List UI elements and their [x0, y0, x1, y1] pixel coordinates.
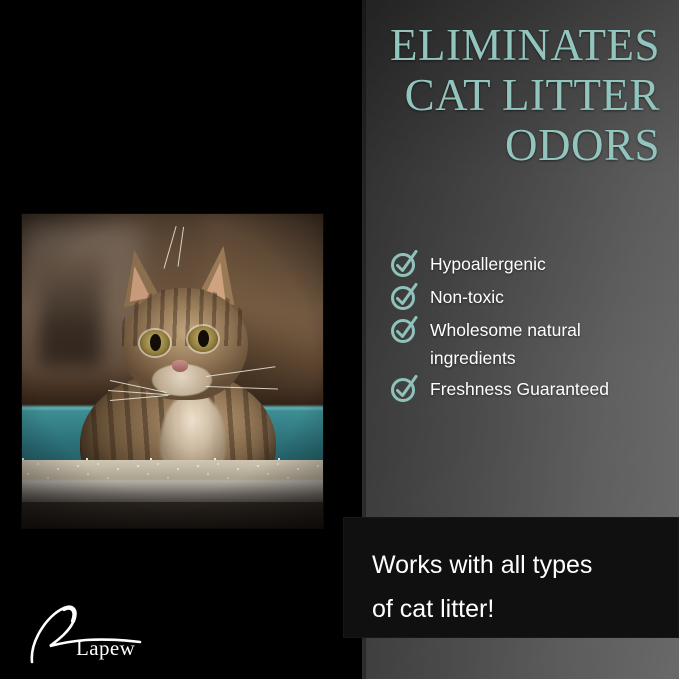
brand-logo: Lapew	[24, 600, 174, 670]
feature-item: Hypoallergenic	[389, 250, 674, 280]
caption-line-1: Works with all types	[372, 543, 662, 587]
caption-text: Works with all types of cat litter!	[372, 543, 662, 631]
feature-label: Freshness Guaranteed	[430, 375, 609, 403]
ad-creative: ELIMINATES CAT LITTER ODORS	[0, 0, 679, 679]
product-photo	[22, 214, 323, 528]
feature-item: Non-toxic	[389, 283, 674, 313]
headline-line-2: CAT LITTER	[300, 70, 660, 120]
feature-list: Hypoallergenic Non-toxic Wholesome natur…	[389, 250, 674, 408]
headline-line-3: ODORS	[300, 120, 660, 170]
caption-panel: Works with all types of cat litter!	[343, 517, 679, 638]
logo-wordmark: Lapew	[76, 636, 135, 661]
feature-label: Wholesome natural ingredients	[430, 316, 662, 372]
headline-line-1: ELIMINATES	[300, 20, 660, 70]
photo-vignette	[22, 214, 323, 528]
feature-item: Freshness Guaranteed	[389, 375, 674, 405]
feature-label: Non-toxic	[430, 283, 504, 311]
check-circle-icon	[389, 248, 419, 278]
feature-label: Hypoallergenic	[430, 250, 546, 278]
headline: ELIMINATES CAT LITTER ODORS	[300, 20, 660, 170]
check-circle-icon	[389, 314, 419, 344]
check-circle-icon	[389, 281, 419, 311]
feature-item: Wholesome natural ingredients	[389, 316, 674, 372]
check-circle-icon	[389, 373, 419, 403]
caption-line-2: of cat litter!	[372, 587, 662, 631]
